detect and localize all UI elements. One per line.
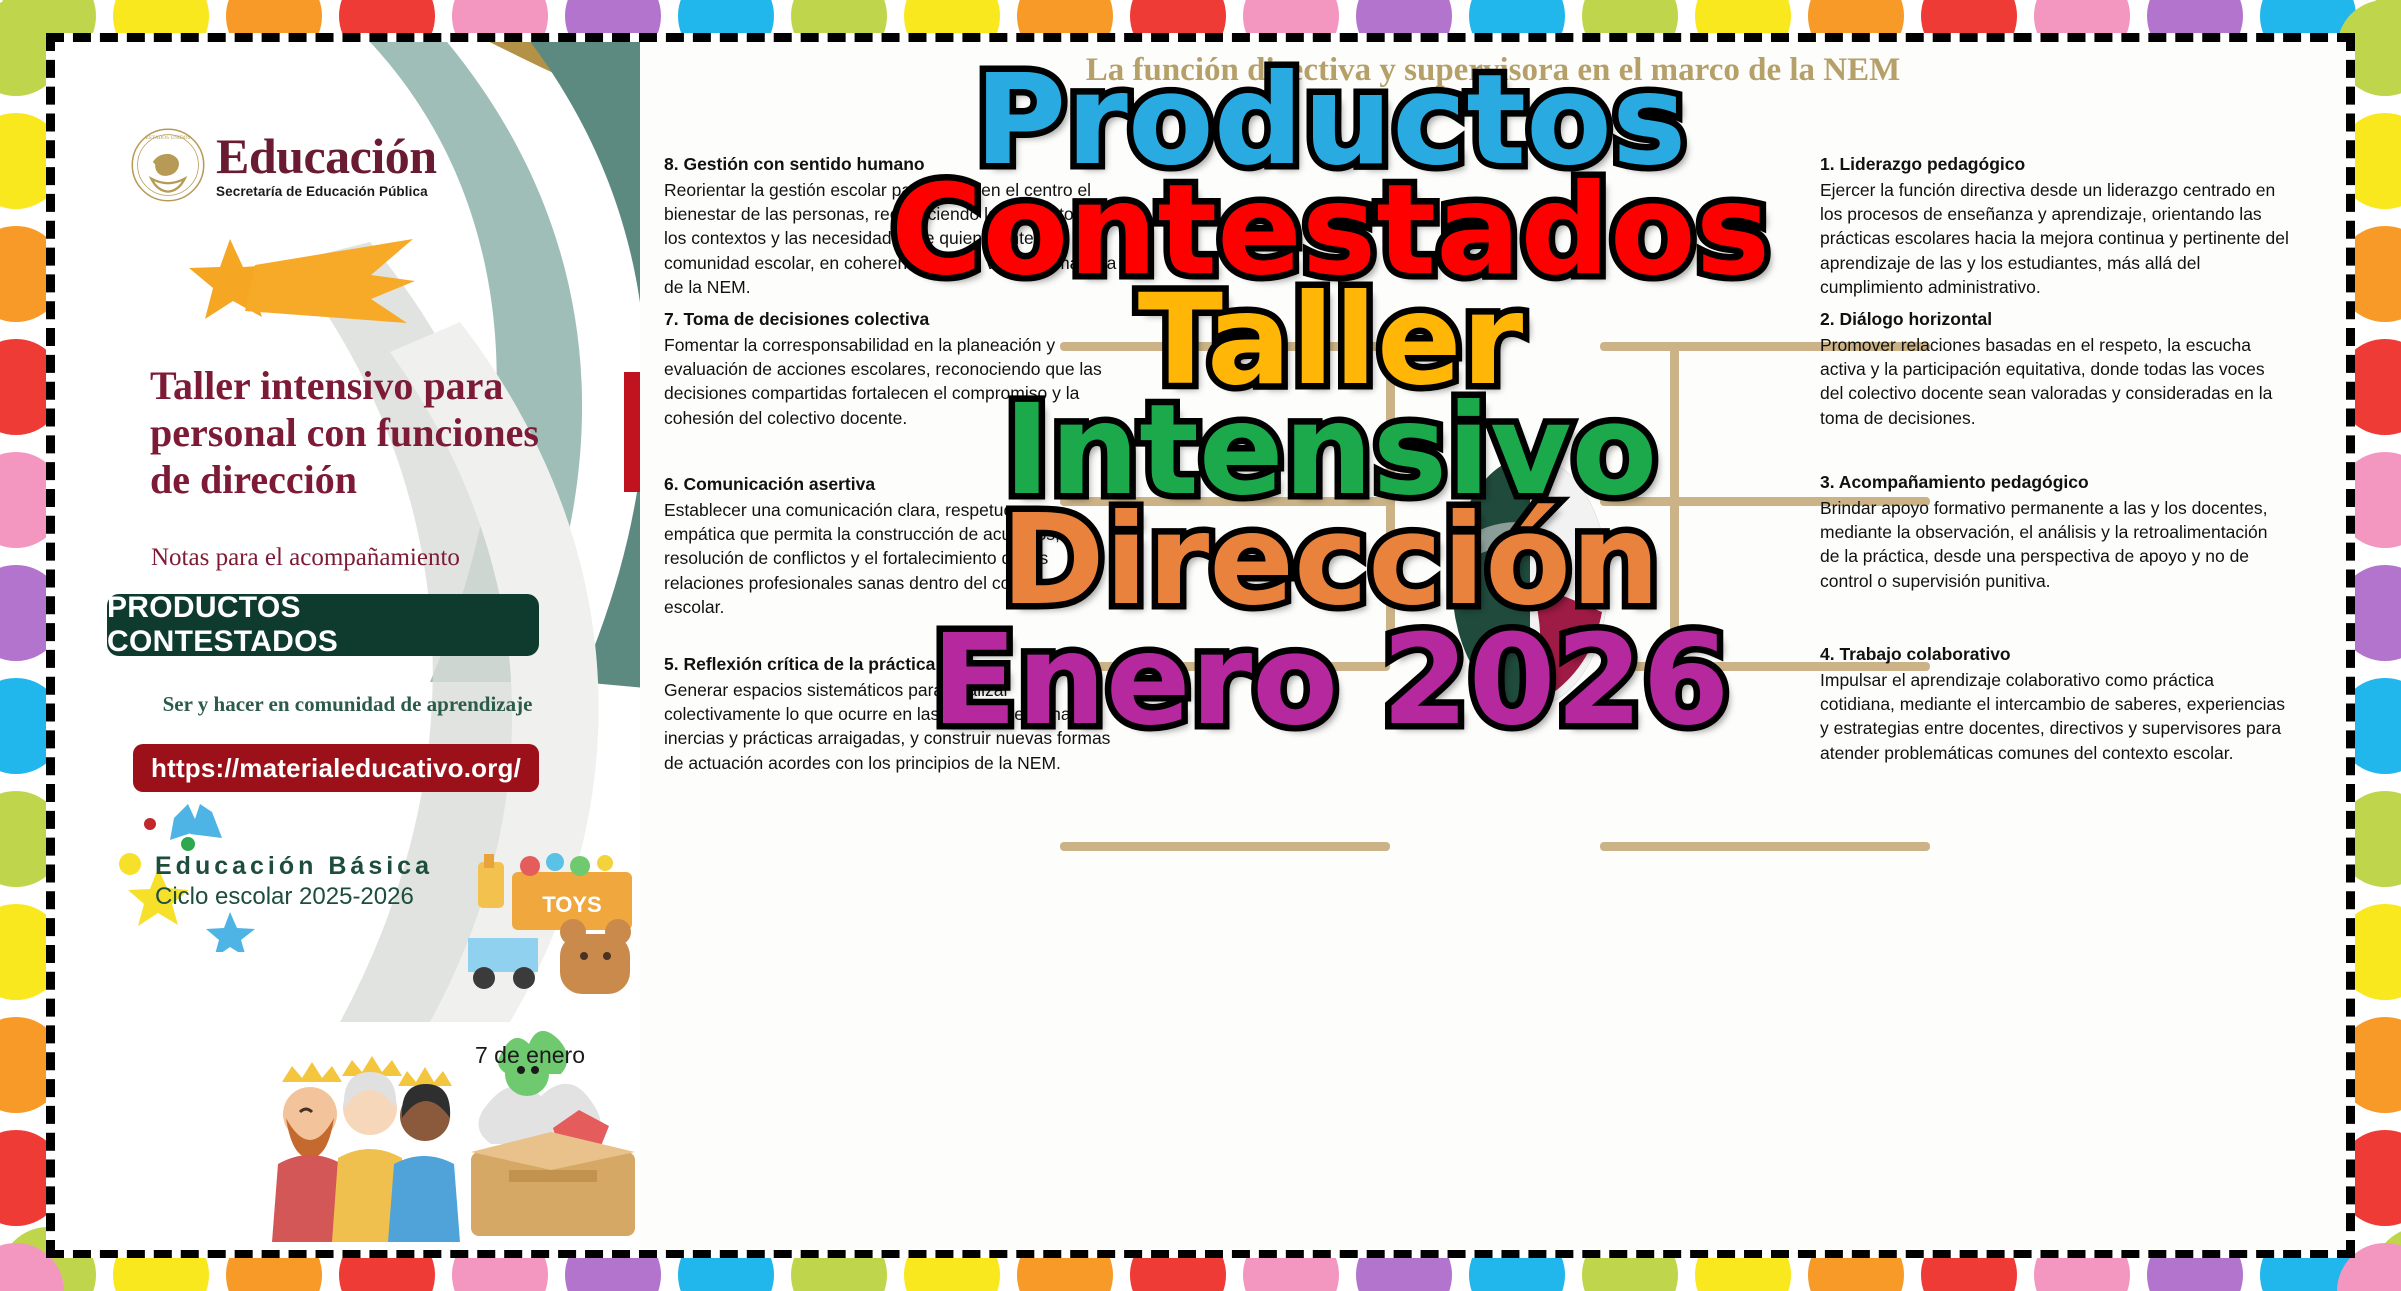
connector-arm xyxy=(1060,842,1390,851)
education-level: Educación Básica xyxy=(155,852,433,881)
site-url-badge[interactable]: https://materialeducativo.org/ xyxy=(133,744,539,792)
poster-canvas: ESTADOS UNIDOS Educación Secretaría de E… xyxy=(0,0,2401,1291)
school-cycle: Ciclo escolar 2025-2026 xyxy=(155,883,433,911)
event-date: 7 de enero xyxy=(475,1042,585,1069)
overlay-line-6: Enero 2026 xyxy=(130,618,2401,743)
svg-text:TOYS: TOYS xyxy=(542,892,602,917)
overlay-line-5: Dirección xyxy=(130,498,2401,623)
three-wise-men-icon xyxy=(270,1052,470,1242)
connector-arm xyxy=(1600,842,1930,851)
toys-shelf-icon: TOYS xyxy=(460,852,640,1022)
site-url-label: https://materialeducativo.org/ xyxy=(151,753,521,784)
education-level-block: Educación Básica Ciclo escolar 2025-2026 xyxy=(155,852,433,911)
toy-box-icon xyxy=(465,1002,640,1242)
